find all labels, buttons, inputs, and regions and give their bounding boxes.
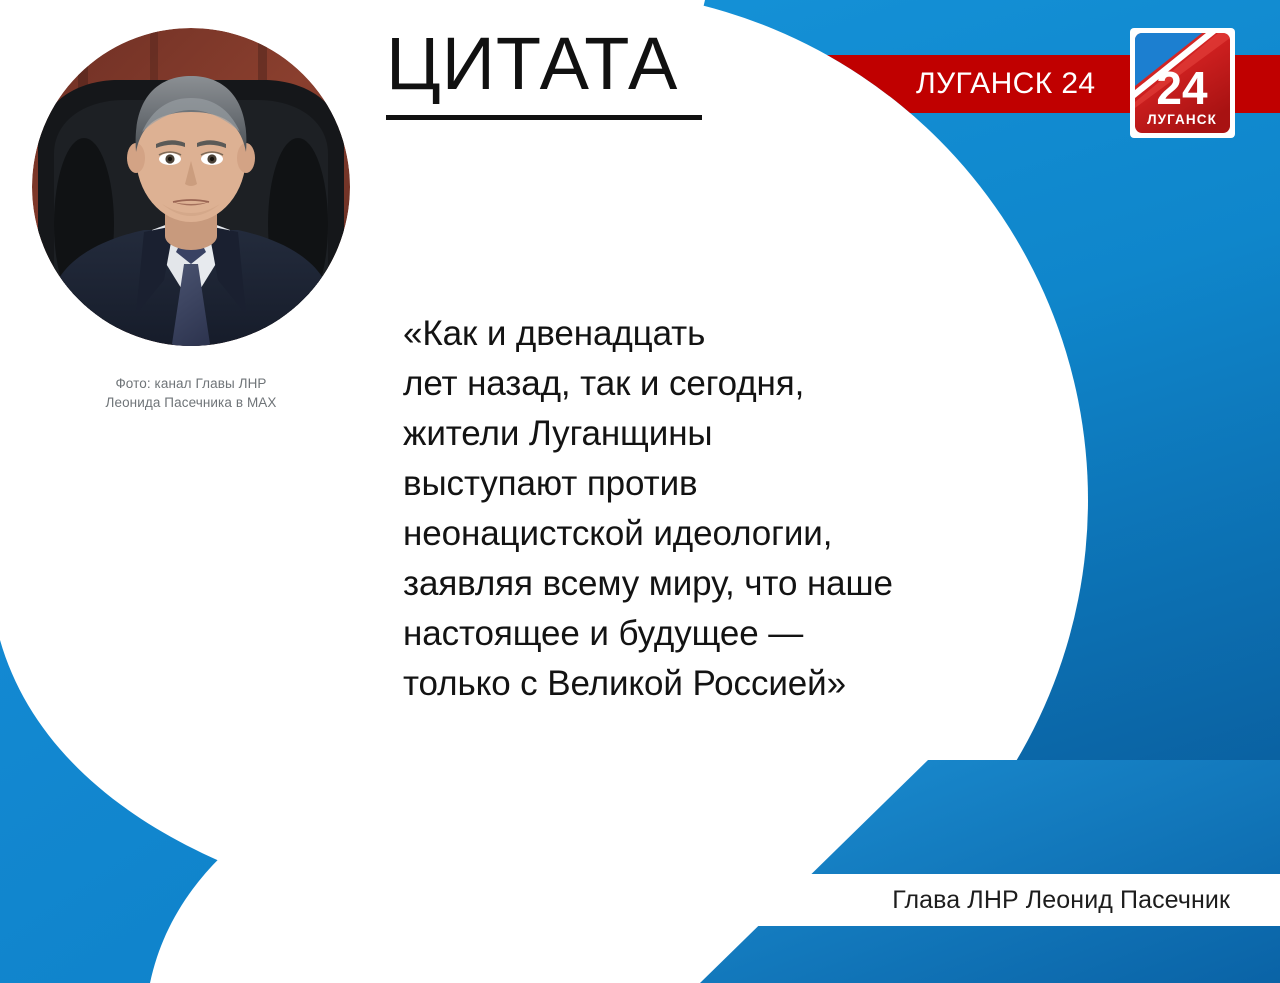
channel-name: ЛУГАНСК 24 <box>916 68 1096 100</box>
photo-credit-line-2: Леонида Пасечника в МАХ <box>32 393 350 412</box>
quote-line: лет назад, так и сегодня, <box>403 359 1023 409</box>
quote-line: заявляя всему миру, что наше <box>403 559 1023 609</box>
quote-line: выступают против <box>403 459 1023 509</box>
title-underline <box>386 115 702 120</box>
quote-text: «Как и двенадцать лет назад, так и сегод… <box>403 309 1023 709</box>
photo-credit: Фото: канал Главы ЛНР Леонида Пасечника … <box>32 374 350 412</box>
attribution: Глава ЛНР Леонид Пасечник <box>700 874 1230 926</box>
photo-credit-line-1: Фото: канал Главы ЛНР <box>32 374 350 393</box>
lugansk-24-logo[interactable]: 24 ЛУГАНСК <box>1130 28 1235 138</box>
quote-line: жители Луганщины <box>403 409 1023 459</box>
quote-line: только с Великой Россией» <box>403 659 1023 709</box>
quote-card: Фото: канал Главы ЛНР Леонида Пасечника … <box>0 0 1280 983</box>
portrait-photo <box>32 28 350 346</box>
logo-number: 24 <box>1156 62 1208 114</box>
quote-line: «Как и двенадцать <box>403 309 1023 359</box>
avatar <box>32 28 350 346</box>
quote-line: неонацистской идеологии, <box>403 509 1023 559</box>
page-title: ЦИТАТА <box>386 27 678 101</box>
logo-wordmark: ЛУГАНСК <box>1147 112 1217 127</box>
quote-line: настоящее и будущее — <box>403 609 1023 659</box>
